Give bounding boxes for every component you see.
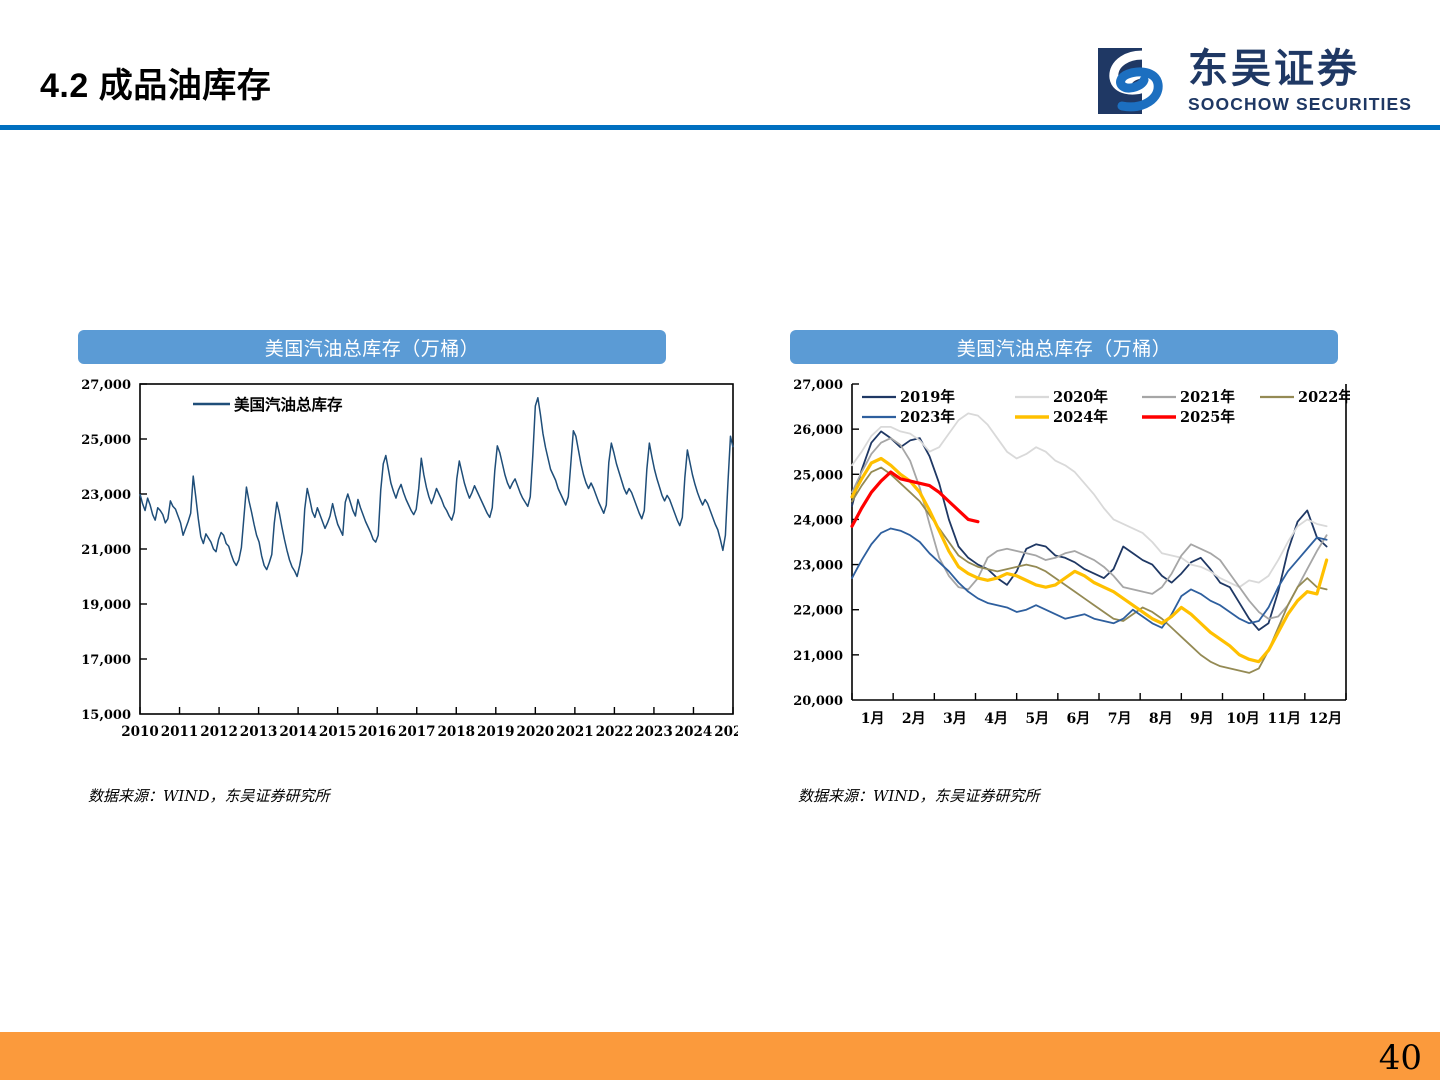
right-x-tick-label: 7月 (1108, 711, 1132, 727)
left-x-tick-label: 2024 (675, 724, 713, 740)
footer-bar (0, 1032, 1440, 1080)
page-title: 4.2 成品油库存 (40, 58, 271, 107)
brand-logo: 东吴证券 SOOCHOW SECURITIES (1098, 48, 1412, 114)
right-legend-label: 2020年 (1053, 388, 1108, 406)
right-chart-plot-area: 20,00021,00022,00023,00024,00025,00026,0… (790, 376, 1350, 766)
right-legend-label: 2024年 (1053, 408, 1108, 426)
right-y-tick-label: 20,000 (793, 694, 843, 709)
left-x-tick-label: 2016 (358, 724, 396, 740)
left-x-tick-label: 2017 (398, 724, 436, 740)
left-x-tick-label: 2011 (161, 724, 199, 740)
left-y-tick-label: 25,000 (81, 433, 131, 448)
right-x-tick-label: 9月 (1190, 711, 1214, 727)
header-divider-rule (0, 125, 1440, 130)
right-x-tick-label: 2月 (902, 711, 926, 727)
right-y-tick-label: 22,000 (793, 604, 843, 619)
right-legend-label: 2025年 (1180, 408, 1235, 426)
left-y-tick-label: 21,000 (81, 543, 131, 558)
right-y-tick-label: 21,000 (793, 649, 843, 664)
left-x-tick-label: 2015 (319, 724, 357, 740)
left-x-tick-label: 2021 (556, 724, 594, 740)
right-chart-block: 美国汽油总库存（万桶） 20,00021,00022,00023,00024,0… (790, 330, 1350, 766)
left-y-tick-label: 15,000 (81, 708, 131, 723)
slide-header: 4.2 成品油库存 东吴证券 SOOCHOW SECURITIES (0, 0, 1440, 130)
page-number: 40 (1379, 1038, 1422, 1078)
left-chart-source-note: 数据来源：WIND，东吴证券研究所 (88, 785, 330, 806)
left-x-tick-label: 2012 (200, 724, 238, 740)
left-series-line (140, 398, 733, 577)
right-x-tick-label: 1月 (861, 711, 885, 727)
left-x-tick-label: 2018 (437, 724, 475, 740)
right-y-tick-label: 25,000 (793, 468, 843, 483)
right-y-tick-label: 26,000 (793, 423, 843, 438)
right-y-tick-label: 27,000 (793, 378, 843, 393)
right-y-tick-label: 24,000 (793, 513, 843, 528)
right-legend-label: 2021年 (1180, 388, 1235, 406)
logo-text-block: 东吴证券 SOOCHOW SECURITIES (1188, 49, 1412, 114)
left-y-tick-label: 23,000 (81, 488, 131, 503)
right-y-tick-label: 23,000 (793, 559, 843, 574)
logo-chinese-name: 东吴证券 (1188, 49, 1412, 89)
right-series-line (852, 438, 1327, 619)
left-x-tick-label: 2013 (240, 724, 278, 740)
right-x-tick-label: 6月 (1067, 711, 1091, 727)
left-x-tick-label: 2025 (714, 724, 738, 740)
right-legend-label: 2022年 (1298, 388, 1350, 406)
left-x-tick-label: 2019 (477, 724, 515, 740)
right-x-tick-label: 10月 (1226, 711, 1259, 727)
left-legend-label: 美国汽油总库存 (234, 395, 343, 414)
right-chart-title-banner: 美国汽油总库存（万桶） (790, 330, 1338, 364)
left-chart-block: 美国汽油总库存（万桶） 15,00017,00019,00021,00023,0… (78, 330, 738, 766)
left-chart-plot-area: 15,00017,00019,00021,00023,00025,00027,0… (78, 376, 738, 766)
right-x-tick-label: 11月 (1268, 711, 1301, 727)
soochow-s-mark-icon (1098, 48, 1174, 114)
left-chart-svg: 15,00017,00019,00021,00023,00025,00027,0… (78, 376, 738, 766)
right-legend-label: 2019年 (900, 388, 955, 406)
left-chart-title-banner: 美国汽油总库存（万桶） (78, 330, 666, 364)
left-x-tick-label: 2023 (635, 724, 673, 740)
right-x-tick-label: 3月 (943, 711, 967, 727)
right-series-line (852, 431, 1327, 630)
left-y-tick-label: 19,000 (81, 598, 131, 613)
left-x-tick-label: 2022 (596, 724, 634, 740)
logo-english-name: SOOCHOW SECURITIES (1188, 96, 1412, 114)
right-x-tick-label: 5月 (1025, 711, 1049, 727)
left-y-tick-label: 27,000 (81, 378, 131, 393)
right-x-tick-label: 8月 (1149, 711, 1173, 727)
right-x-tick-label: 4月 (984, 711, 1008, 727)
right-chart-svg: 20,00021,00022,00023,00024,00025,00026,0… (790, 376, 1350, 766)
right-chart-source-note: 数据来源：WIND，东吴证券研究所 (798, 785, 1040, 806)
left-x-tick-label: 2010 (121, 724, 159, 740)
left-x-tick-label: 2014 (279, 724, 317, 740)
left-x-tick-label: 2020 (517, 724, 555, 740)
left-y-tick-label: 17,000 (81, 653, 131, 668)
right-x-tick-label: 12月 (1309, 711, 1342, 727)
right-series-line (852, 472, 978, 526)
right-legend-label: 2023年 (900, 408, 955, 426)
